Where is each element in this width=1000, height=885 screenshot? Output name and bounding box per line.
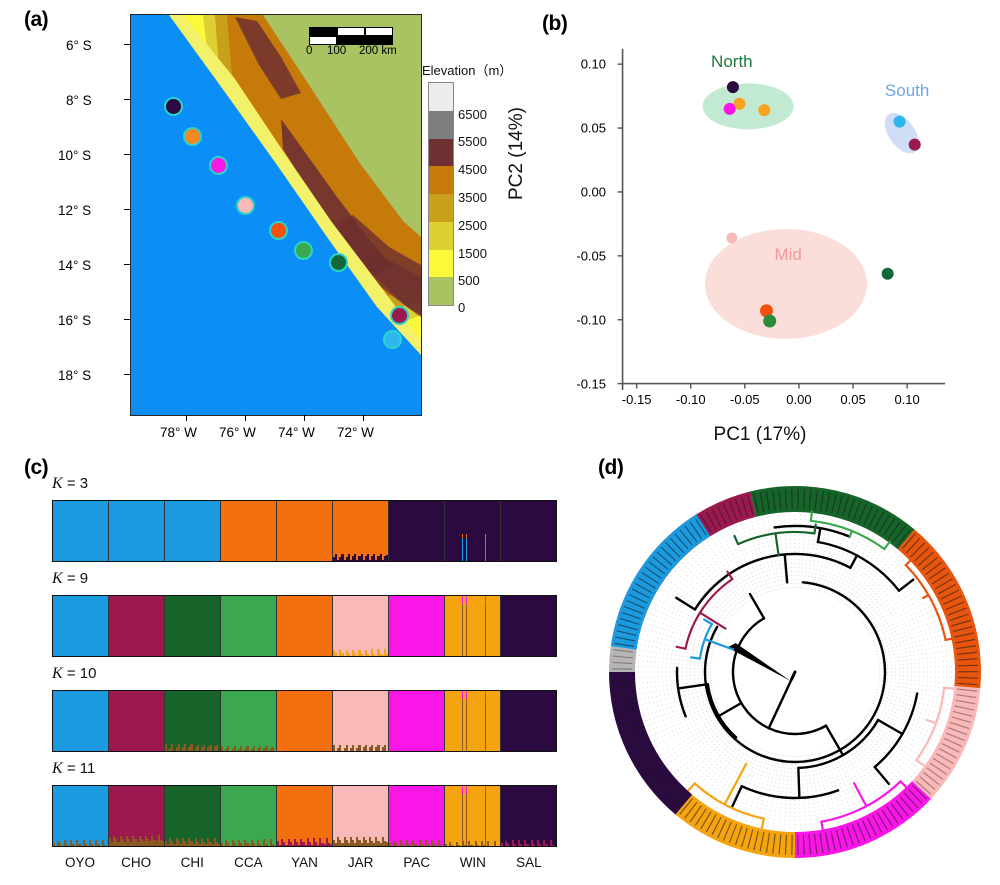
map-lon-tick: 76° W xyxy=(219,425,256,440)
map-site-marker[interactable] xyxy=(294,241,313,260)
structure-pop-cell-oyo[interactable] xyxy=(53,786,109,846)
elevation-legend-title: Elevation（m） xyxy=(422,60,512,79)
structure-ancestry-segment xyxy=(274,691,276,751)
structure-pop-cell-cho[interactable] xyxy=(109,786,165,846)
structure-ancestry-segment xyxy=(554,596,556,656)
tree-branch xyxy=(689,783,695,790)
pca-group-label-mid: Mid xyxy=(774,245,801,265)
structure-ancestry-segment xyxy=(442,691,444,751)
structure-pop-cell-yan[interactable] xyxy=(277,596,333,656)
structure-pop-cell-chi[interactable] xyxy=(165,691,221,751)
structure-individual-bar xyxy=(274,786,276,846)
structure-ancestry-segment xyxy=(218,844,220,846)
structure-ancestry-segment xyxy=(162,501,164,561)
structure-ancestry-segment xyxy=(162,841,164,846)
elevation-break: 500 xyxy=(458,273,480,288)
map-site-marker[interactable] xyxy=(209,156,228,175)
pca-y-tick: 0.10 xyxy=(540,57,606,72)
pca-point[interactable] xyxy=(909,139,921,151)
structure-pop-cell-jar[interactable] xyxy=(333,691,389,751)
structure-individual-bar xyxy=(498,786,500,846)
pca-group-label-north: North xyxy=(711,52,753,72)
structure-individual-bar xyxy=(554,596,556,656)
structure-individual-bar xyxy=(330,501,332,561)
structure-pop-cell-oyo[interactable] xyxy=(53,596,109,656)
panel-d-tree: (d) xyxy=(590,450,1000,885)
structure-pop-label-jar: JAR xyxy=(333,855,389,870)
structure-ancestry-segment xyxy=(554,691,556,751)
pca-x-tick: 0.05 xyxy=(840,392,865,407)
structure-ancestry-segment xyxy=(330,844,332,846)
tree-branch xyxy=(814,524,815,533)
tree-branch xyxy=(818,528,820,542)
elevation-color-ramp xyxy=(428,82,454,306)
k-label-9: K = 9 xyxy=(52,570,88,588)
structure-individual-bar xyxy=(554,501,556,561)
structure-individual-bar xyxy=(386,786,388,846)
scalebar-tick-0: 0 xyxy=(306,45,312,57)
structure-pop-cell-cho[interactable] xyxy=(109,501,165,561)
map-lon-tick: 78° W xyxy=(160,425,197,440)
structure-ancestry-segment xyxy=(386,786,388,843)
structure-individual-bar xyxy=(462,534,463,561)
structure-ancestry-segment xyxy=(106,691,108,751)
pca-point[interactable] xyxy=(758,104,770,116)
pca-cluster-ellipse xyxy=(878,107,926,160)
map-lat-tick: 6° S xyxy=(66,38,92,53)
structure-ancestry-segment xyxy=(462,786,463,794)
structure-ancestry-segment xyxy=(106,501,108,561)
tree-branch xyxy=(927,720,936,723)
structure-ancestry-segment xyxy=(554,501,556,561)
tree-branch xyxy=(850,555,857,567)
pca-point[interactable] xyxy=(724,103,736,115)
structure-pop-cell-sal[interactable] xyxy=(501,786,556,846)
circular-tree-svg xyxy=(595,472,995,872)
structure-pop-cell-win[interactable] xyxy=(445,501,501,561)
structure-ancestry-segment xyxy=(498,501,500,561)
structure-individual-bar xyxy=(162,691,164,751)
tree-branch xyxy=(762,819,764,828)
pca-x-tick: -0.10 xyxy=(676,392,706,407)
map-scalebar: 0 100 200 km xyxy=(309,19,421,53)
structure-pop-cell-oyo[interactable] xyxy=(53,501,109,561)
structure-pop-label-yan: YAN xyxy=(276,855,332,870)
pca-x-tick: 0.00 xyxy=(786,392,811,407)
pca-y-axis-label: PC2 (14%) xyxy=(506,107,528,200)
tree-branch xyxy=(785,554,787,582)
tree-branch xyxy=(818,542,899,591)
structure-ancestry-segment xyxy=(106,786,108,846)
structure-individual-bar xyxy=(498,501,500,561)
map-lat-tick: 12° S xyxy=(58,203,91,218)
elevation-break: 5500 xyxy=(458,134,487,149)
structure-pop-cell-cca[interactable] xyxy=(221,596,277,656)
tree-branch xyxy=(854,783,866,806)
pca-point[interactable] xyxy=(763,315,776,328)
pca-y-tick: -0.05 xyxy=(540,248,606,263)
tree-branch xyxy=(901,781,907,787)
pca-y-tick: 0.00 xyxy=(540,184,606,199)
structure-ancestry-segment xyxy=(162,691,164,751)
structure-individual-bar xyxy=(106,501,108,561)
map-lat-tick: 8° S xyxy=(66,93,92,108)
elevation-break: 2500 xyxy=(458,218,487,233)
tree-ring-sector-oyo[interactable] xyxy=(611,514,710,649)
structure-pop-label-win: WIN xyxy=(445,855,501,870)
structure-ancestry-segment xyxy=(386,691,388,751)
structure-pop-cell-cca[interactable] xyxy=(221,501,277,561)
structure-pop-cell-chi[interactable] xyxy=(165,786,221,846)
structure-individual-bar xyxy=(485,691,486,751)
tree-branch xyxy=(677,647,686,649)
structure-ancestry-segment xyxy=(485,534,486,538)
structure-pop-label-pac: PAC xyxy=(389,855,445,870)
pca-x-tick: -0.05 xyxy=(730,392,760,407)
structure-pop-cell-yan[interactable] xyxy=(277,501,333,561)
elevation-break: 1500 xyxy=(458,246,487,261)
structure-ancestry-segment xyxy=(274,596,276,656)
elevation-break: 4500 xyxy=(458,162,487,177)
structure-individual-bar xyxy=(274,596,276,656)
structure-individual-bar xyxy=(485,534,486,561)
structure-individual-bar xyxy=(466,596,467,656)
structure-individual-bar xyxy=(554,691,556,751)
scalebar-tick-200: 200 km xyxy=(359,45,397,57)
structure-individual-bar xyxy=(485,786,486,846)
structure-pop-cell-pac[interactable] xyxy=(389,596,445,656)
structure-ancestry-segment xyxy=(498,596,500,656)
tree-branch xyxy=(826,726,843,755)
elevation-legend: Elevation（m） 6500 5500 4500 3500 2500 15… xyxy=(418,60,518,310)
structure-row-k11[interactable] xyxy=(52,785,557,847)
structure-ancestry-segment xyxy=(485,691,486,699)
k-value-10: 10 xyxy=(80,665,97,682)
structure-pop-cell-cca[interactable] xyxy=(221,786,277,846)
structure-pop-cell-yan[interactable] xyxy=(277,786,333,846)
map-lon-tick: 72° W xyxy=(337,425,374,440)
structure-ancestry-segment xyxy=(466,786,467,794)
structure-individual-bar xyxy=(106,596,108,656)
structure-row-k3[interactable] xyxy=(52,500,557,562)
k-label-11: K = 11 xyxy=(52,760,95,778)
pca-x-tick: 0.10 xyxy=(894,392,919,407)
structure-individual-bar xyxy=(386,691,388,751)
scalebar-tick-100: 100 xyxy=(327,45,346,57)
pca-point[interactable] xyxy=(894,116,906,128)
tree-branch xyxy=(811,512,812,521)
pca-y-tick: 0.05 xyxy=(540,121,606,136)
tree-branch xyxy=(769,726,826,734)
tree-branch xyxy=(734,536,738,544)
structure-individual-bar xyxy=(498,596,500,656)
pca-y-tick: -0.10 xyxy=(540,312,606,327)
structure-pop-cell-pac[interactable] xyxy=(389,501,445,561)
structure-individual-bar xyxy=(106,691,108,751)
structure-ancestry-segment xyxy=(485,786,486,794)
elevation-break: 0 xyxy=(458,300,465,315)
panel-c-label: (c) xyxy=(24,456,48,480)
tree-branch xyxy=(875,767,889,784)
structure-pop-cell-sal[interactable] xyxy=(501,596,556,656)
pca-y-tick: -0.15 xyxy=(540,376,606,391)
panel-a-map: (a) xyxy=(0,0,520,450)
structure-pop-label-chi: CHI xyxy=(164,855,220,870)
structure-individual-bar xyxy=(485,596,486,656)
tree-branch xyxy=(899,580,913,591)
map-lon-tick: 74° W xyxy=(278,425,315,440)
structure-pop-cell-oyo[interactable] xyxy=(53,691,109,751)
elevation-break: 3500 xyxy=(458,190,487,205)
k-value-9: 9 xyxy=(80,570,88,587)
structure-ancestry-segment xyxy=(462,596,463,604)
tree-branch xyxy=(677,668,686,716)
structure-pop-cell-pac[interactable] xyxy=(389,691,445,751)
tree-branch xyxy=(676,598,695,610)
structure-individual-bar xyxy=(162,786,164,846)
structure-ancestry-segment xyxy=(218,501,220,561)
structure-pop-cell-jar[interactable] xyxy=(333,596,389,656)
k-label-3: K = 3 xyxy=(52,475,88,493)
structure-ancestry-segment xyxy=(162,596,164,656)
map-site-marker[interactable] xyxy=(269,221,288,240)
structure-individual-bar xyxy=(218,786,220,846)
structure-ancestry-segment xyxy=(162,786,164,841)
k-value-3: 3 xyxy=(80,475,88,492)
structure-individual-bar xyxy=(330,786,332,846)
map-site-marker[interactable] xyxy=(236,196,255,215)
pca-point[interactable] xyxy=(726,232,737,243)
tree-branch xyxy=(750,594,764,618)
structure-individual-bar xyxy=(386,596,388,656)
map-lat-tick: 16° S xyxy=(58,313,91,328)
structure-ancestry-segment xyxy=(330,691,332,751)
structure-ancestry-segment xyxy=(218,691,220,751)
map-canvas[interactable]: 0 100 200 km xyxy=(130,14,422,416)
map-lat-tick: 14° S xyxy=(58,258,91,273)
structure-ancestry-segment xyxy=(274,786,276,846)
structure-pop-cell-pac[interactable] xyxy=(389,786,445,846)
panel-b-pca: (b) PC1 (17%) PC2 (14%) -0.15-0.10-0.050… xyxy=(520,0,1000,450)
map-lat-tick: 18° S xyxy=(58,368,91,383)
structure-row-k10[interactable] xyxy=(52,690,557,752)
tree-ring-sector-cca[interactable] xyxy=(750,486,915,549)
pca-x-axis-label: PC1 (17%) xyxy=(520,424,1000,446)
structure-ancestry-segment xyxy=(485,596,486,604)
structure-ancestry-segment xyxy=(466,596,467,604)
structure-pop-cell-sal[interactable] xyxy=(501,691,556,751)
structure-pop-cell-cho[interactable] xyxy=(109,596,165,656)
structure-ancestry-segment xyxy=(386,654,388,656)
structure-individual-bar xyxy=(442,786,444,846)
structure-pop-cell-win[interactable] xyxy=(445,596,501,656)
k-label-10: K = 10 xyxy=(52,665,96,683)
structure-ancestry-segment xyxy=(386,596,388,655)
structure-pop-cell-win[interactable] xyxy=(445,691,501,751)
tree-branch xyxy=(733,618,769,728)
tree-branch xyxy=(798,768,799,798)
structure-ancestry-segment xyxy=(466,691,467,699)
tree-branch xyxy=(884,542,889,549)
k-value-11: 11 xyxy=(80,760,96,777)
structure-individual-bar xyxy=(162,501,164,561)
structure-ancestry-segment xyxy=(330,596,332,656)
structure-ancestry-segment xyxy=(442,786,444,846)
structure-individual-bar xyxy=(462,786,463,846)
elevation-break: 6500 xyxy=(458,107,487,122)
structure-pop-label-sal: SAL xyxy=(501,855,557,870)
structure-individual-bar xyxy=(386,501,388,561)
pca-cluster-ellipse xyxy=(703,83,794,129)
structure-ancestry-segment xyxy=(330,786,332,845)
structure-pop-label-cho: CHO xyxy=(108,855,164,870)
structure-individual-bar xyxy=(554,786,556,846)
tree-branch xyxy=(719,703,742,716)
structure-ancestry-segment xyxy=(106,596,108,656)
tree-ring-sector-yan[interactable] xyxy=(898,530,981,689)
map-terrain-svg xyxy=(131,15,421,415)
structure-individual-bar xyxy=(162,596,164,656)
structure-ancestry-segment xyxy=(554,786,556,846)
structure-pop-cell-sal[interactable] xyxy=(501,501,556,561)
structure-ancestry-segment xyxy=(442,501,444,561)
map-site-marker[interactable] xyxy=(164,97,183,116)
map-site-marker[interactable] xyxy=(183,127,202,146)
structure-ancestry-segment xyxy=(498,691,500,751)
structure-individual-bar xyxy=(274,691,276,751)
tree-branch xyxy=(821,822,823,831)
structure-ancestry-segment xyxy=(274,501,276,561)
structure-individual-bar xyxy=(330,691,332,751)
pca-point[interactable] xyxy=(727,81,739,93)
structure-individual-bar xyxy=(274,501,276,561)
panel-b-label: (b) xyxy=(542,12,567,36)
structure-ancestry-segment xyxy=(386,556,388,561)
tree-branch xyxy=(776,533,779,555)
structure-individual-bar xyxy=(442,596,444,656)
tree-ring-sector-out[interactable] xyxy=(609,646,637,672)
structure-individual-bar xyxy=(462,596,463,656)
structure-individual-bar xyxy=(442,501,444,561)
tree-branch xyxy=(916,760,923,765)
map-lat-tick: 10° S xyxy=(58,148,91,163)
structure-individual-bar xyxy=(106,786,108,846)
structure-ancestry-segment xyxy=(498,786,500,846)
structure-individual-bar xyxy=(442,691,444,751)
structure-ancestry-segment xyxy=(462,691,463,699)
pca-group-label-south: South xyxy=(885,81,929,101)
structure-population-labels: OYOCHOCHICCAYANJARPACWINSAL xyxy=(52,855,557,870)
structure-individual-bar xyxy=(462,691,463,751)
structure-ancestry-segment xyxy=(386,842,388,846)
structure-individual-bar xyxy=(218,501,220,561)
structure-individual-bar xyxy=(218,596,220,656)
structure-pop-cell-cho[interactable] xyxy=(109,691,165,751)
structure-individual-bar xyxy=(330,596,332,656)
structure-pop-cell-jar[interactable] xyxy=(333,786,389,846)
structure-ancestry-segment xyxy=(218,786,220,844)
tree-branch xyxy=(691,657,700,658)
pca-x-tick: -0.15 xyxy=(622,392,652,407)
map-site-marker[interactable] xyxy=(390,306,409,325)
structure-ancestry-segment xyxy=(462,534,463,538)
structure-ancestry-segment xyxy=(466,534,467,538)
structure-pop-cell-win[interactable] xyxy=(445,786,501,846)
structure-individual-bar xyxy=(466,691,467,751)
structure-individual-bar xyxy=(498,691,500,751)
structure-ancestry-segment xyxy=(442,596,444,656)
structure-ancestry-segment xyxy=(218,596,220,656)
structure-pop-cell-jar[interactable] xyxy=(333,501,389,561)
pca-point[interactable] xyxy=(882,268,894,280)
structure-pop-label-cca: CCA xyxy=(220,855,276,870)
structure-individual-bar xyxy=(218,691,220,751)
structure-pop-cell-yan[interactable] xyxy=(277,691,333,751)
structure-pop-cell-chi[interactable] xyxy=(165,596,221,656)
tree-branch xyxy=(944,688,953,689)
structure-ancestry-segment xyxy=(386,501,388,555)
structure-individual-bar xyxy=(466,786,467,846)
structure-pop-cell-cca[interactable] xyxy=(221,691,277,751)
structure-ancestry-segment xyxy=(330,501,332,561)
tree-branch xyxy=(742,786,838,798)
map-site-marker[interactable] xyxy=(329,253,348,272)
structure-pop-label-oyo: OYO xyxy=(52,855,108,870)
structure-individual-bar xyxy=(466,534,467,561)
structure-row-k9[interactable] xyxy=(52,595,557,657)
tree-branch xyxy=(769,679,792,728)
map-site-marker[interactable] xyxy=(383,330,402,349)
structure-pop-cell-chi[interactable] xyxy=(165,501,221,561)
panel-a-label: (a) xyxy=(24,8,48,32)
circular-tree[interactable] xyxy=(595,472,995,872)
